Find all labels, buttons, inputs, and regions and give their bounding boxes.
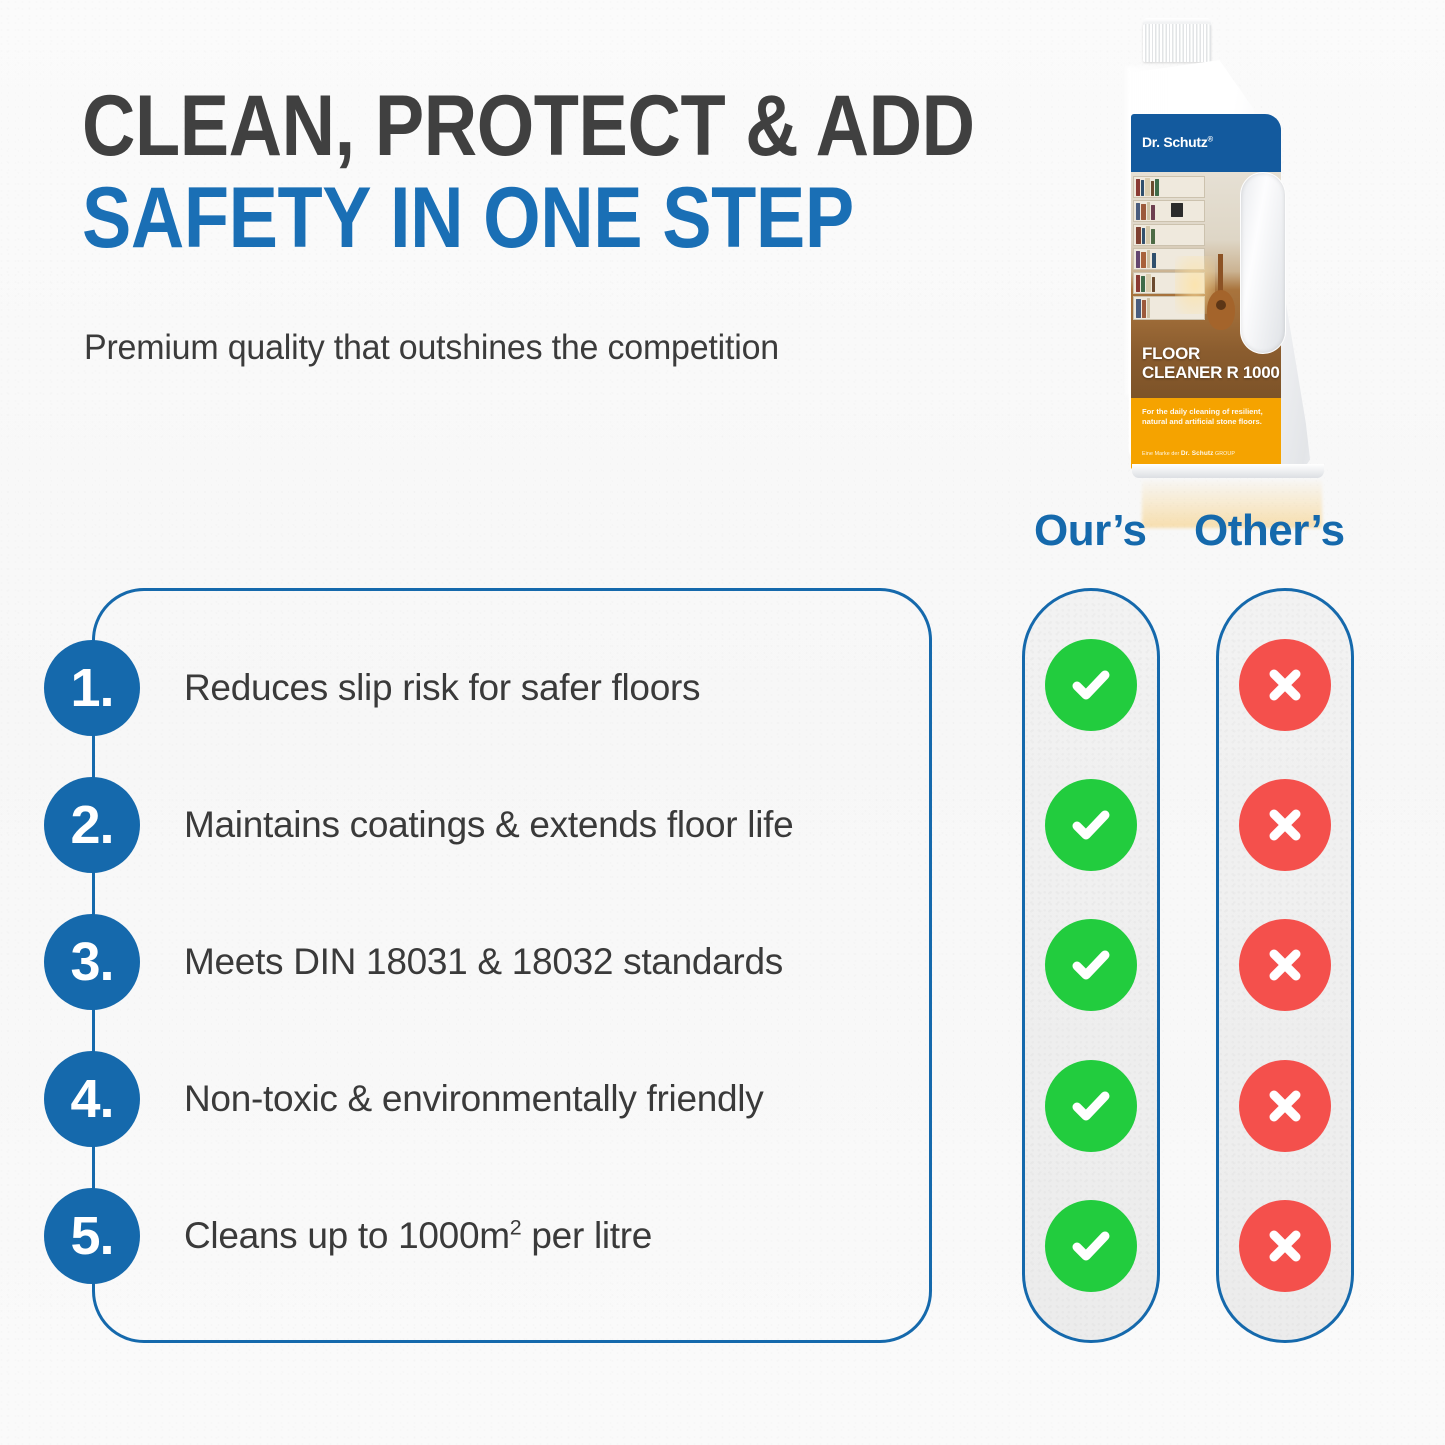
headline-line-2: SAFETY IN ONE STEP — [82, 176, 908, 260]
feature-item-4: 4. Non-toxic & environmentally friendly — [44, 1051, 763, 1147]
feature-item-1: 1. Reduces slip risk for safer floors — [44, 640, 700, 736]
infographic-canvas: CLEAN, PROTECT & ADD SAFETY IN ONE STEP … — [0, 0, 1445, 1445]
book — [1141, 180, 1144, 196]
feature-item-3: 3. Meets DIN 18031 & 18032 standards — [44, 914, 783, 1010]
product-name-line-2: CLEANER R 1000 — [1142, 363, 1280, 382]
feature-number-badge-3: 3. — [44, 914, 140, 1010]
label-orange-band: For the daily cleaning of resilient, nat… — [1131, 398, 1281, 469]
feature-label-2: Maintains coatings & extends floor life — [184, 804, 793, 846]
book — [1147, 298, 1150, 318]
book — [1146, 274, 1151, 292]
book — [1142, 228, 1145, 244]
feature-label-5: Cleans up to 1000m2 per litre — [184, 1215, 652, 1257]
brand-name: Dr. Schutz® — [1142, 134, 1213, 150]
book — [1151, 205, 1155, 220]
superscript-two: 2 — [510, 1216, 522, 1240]
feature-label-4: Non-toxic & environmentally friendly — [184, 1078, 763, 1120]
cross-icon — [1239, 1200, 1331, 1292]
feature-label-1: Reduces slip risk for safer floors — [184, 667, 700, 709]
book — [1136, 275, 1140, 292]
feature-label-3: Meets DIN 18031 & 18032 standards — [184, 941, 783, 983]
book — [1147, 202, 1150, 220]
column-header-others: Other’s — [1194, 506, 1345, 556]
check-icon — [1045, 779, 1137, 871]
feature-item-2: 2. Maintains coatings & extends floor li… — [44, 777, 793, 873]
book — [1136, 299, 1141, 318]
book — [1171, 203, 1183, 217]
book — [1147, 250, 1150, 268]
book — [1141, 276, 1145, 292]
book — [1146, 226, 1150, 244]
product-description: For the daily cleaning of resilient, nat… — [1142, 407, 1274, 428]
book — [1152, 277, 1155, 292]
guitar-soundhole — [1216, 300, 1226, 310]
registered-icon: ® — [1207, 134, 1212, 143]
feature-item-5: 5. Cleans up to 1000m2 per litre — [44, 1188, 652, 1284]
check-icon — [1045, 1200, 1137, 1292]
product-bottle: Dr. Schutz® — [1116, 22, 1346, 492]
book — [1136, 179, 1140, 196]
bottle-grip-handle — [1240, 172, 1286, 354]
feature-number-badge-1: 1. — [44, 640, 140, 736]
headline-block: CLEAN, PROTECT & ADD SAFETY IN ONE STEP — [82, 84, 1042, 261]
feature-number-badge-5: 5. — [44, 1188, 140, 1284]
bottle-base — [1132, 464, 1324, 478]
guitar-body — [1207, 290, 1235, 330]
check-icon — [1045, 1060, 1137, 1152]
book — [1136, 227, 1141, 244]
check-icon — [1045, 919, 1137, 1011]
feature-label-5-text: Cleans up to 1000m — [184, 1215, 510, 1256]
comparison-column-ours — [1022, 588, 1160, 1343]
book — [1152, 253, 1156, 268]
bottle-cap — [1143, 22, 1211, 62]
book — [1151, 229, 1155, 244]
book — [1141, 204, 1146, 220]
column-header-ours: Our’s — [1034, 506, 1146, 556]
book — [1141, 252, 1146, 268]
cross-icon — [1239, 779, 1331, 871]
cross-icon — [1239, 639, 1331, 731]
book — [1145, 178, 1150, 196]
product-footer-note: Eine Marke der Dr. Schutz GROUP — [1142, 450, 1235, 457]
book — [1136, 251, 1140, 268]
book — [1155, 179, 1159, 196]
headline-line-1: CLEAN, PROTECT & ADD — [82, 84, 908, 168]
feature-number-badge-2: 2. — [44, 777, 140, 873]
feature-number-badge-4: 4. — [44, 1051, 140, 1147]
comparison-column-others — [1216, 588, 1354, 1343]
book — [1142, 300, 1146, 318]
feature-label-5-tail: per litre — [521, 1215, 652, 1256]
cross-icon — [1239, 919, 1331, 1011]
book — [1136, 203, 1140, 220]
book — [1151, 181, 1154, 196]
subheadline: Premium quality that outshines the compe… — [84, 328, 779, 368]
cross-icon — [1239, 1060, 1331, 1152]
check-icon — [1045, 639, 1137, 731]
